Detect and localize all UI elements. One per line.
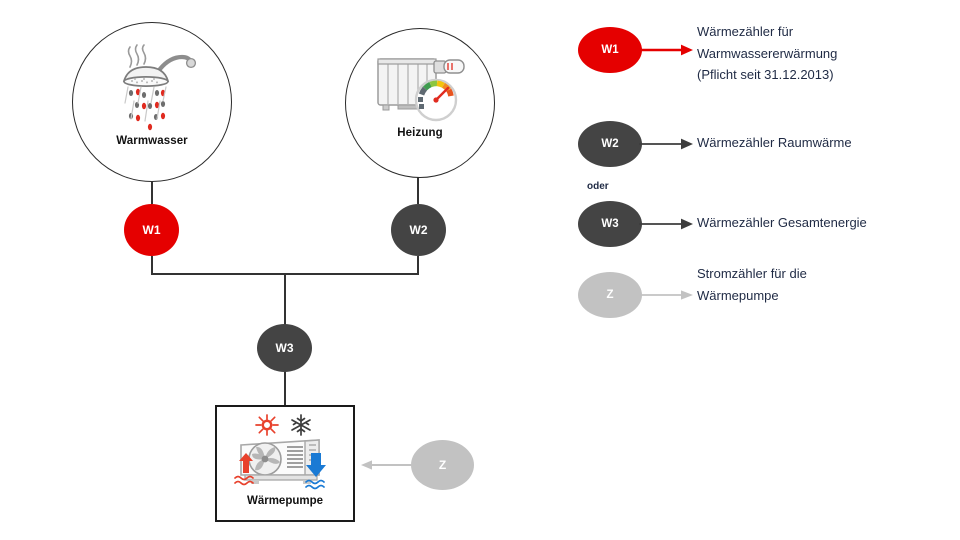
diagram-canvas: Warmwasser [0,0,960,540]
legend-badge-z-label: Z [606,289,613,301]
node-warmwasser-label: Warmwasser [116,135,188,147]
radiator-icon [368,47,472,127]
legend-arrow-w2 [639,134,695,154]
legend: W1 Wärmezähler für Warmwassererwärmung (… [575,18,945,318]
legend-badge-w1[interactable]: W1 [578,27,642,73]
meter-w1[interactable]: W1 [124,204,179,256]
legend-badge-w1-label: W1 [601,44,618,56]
node-heatpump[interactable]: Wärmepumpe [215,405,355,522]
legend-text-z: Stromzähler für die Wärmepumpe [697,263,937,306]
meter-z-label: Z [439,458,446,472]
meter-w1-label: W1 [143,223,161,237]
legend-separator: oder [587,181,609,192]
legend-text-w3: Wärmezähler Gesamtenergie [697,212,947,234]
meter-w3[interactable]: W3 [257,324,312,372]
connector-w3-heatpump [284,370,286,406]
legend-arrow-z [639,285,695,305]
legend-badge-z[interactable]: Z [578,272,642,318]
connector-bus-w3 [284,273,286,325]
connector-w2-bus [417,256,419,274]
electricity-arrow [358,452,414,478]
meter-w2-label: W2 [410,223,428,237]
node-heatpump-label: Wärmepumpe [247,495,323,507]
shower-icon [104,43,200,135]
node-warmwasser[interactable]: Warmwasser [72,22,232,182]
legend-arrow-w3 [639,214,695,234]
node-heizung-label: Heizung [397,127,442,139]
legend-badge-w3[interactable]: W3 [578,201,642,247]
legend-badge-w3-label: W3 [601,218,618,230]
connector-w1-bus [151,256,153,274]
meter-z[interactable]: Z [411,440,474,490]
legend-text-w2: Wärmezähler Raumwärme [697,132,937,154]
meter-w3-label: W3 [276,341,294,355]
connector-heizung-w2 [417,176,419,204]
legend-arrow-w1 [639,40,695,60]
legend-badge-w2[interactable]: W2 [578,121,642,167]
legend-badge-w2-label: W2 [601,138,618,150]
heat-pump-icon [227,413,343,495]
connector-warmwasser-w1 [151,182,153,204]
meter-w2[interactable]: W2 [391,204,446,256]
legend-text-w1: Wärmezähler für Warmwassererwärmung (Pfl… [697,21,937,86]
node-heizung[interactable]: Heizung [345,28,495,178]
